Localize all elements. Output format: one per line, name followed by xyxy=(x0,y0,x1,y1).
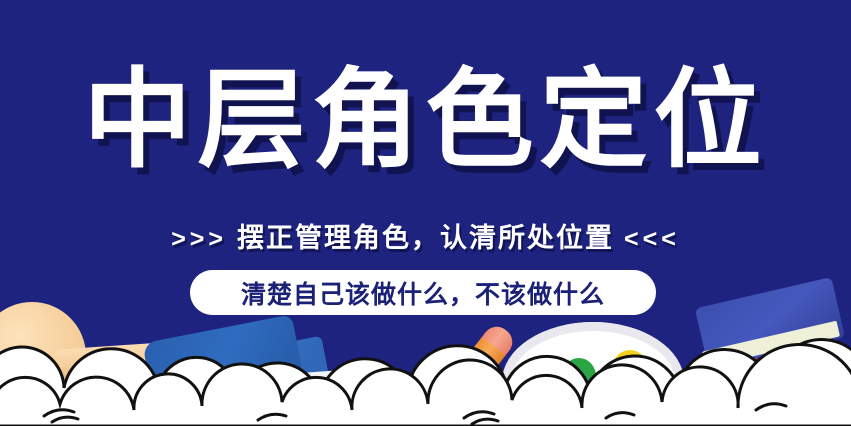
subtitle: >>>摆正管理角色，认清所处位置<<< xyxy=(0,216,851,255)
illustration-scene xyxy=(0,296,851,426)
subtitle-text: 摆正管理角色，认清所处位置 xyxy=(233,223,618,253)
page-title: 中层角色定位 xyxy=(0,58,851,185)
left-chevrons-icon: >>> xyxy=(165,225,233,253)
clouds-icon xyxy=(0,330,851,426)
right-chevrons-icon: <<< xyxy=(618,225,686,253)
promo-banner: 中层角色定位 >>>摆正管理角色，认清所处位置<<< 清楚自己该做什么，不该做什… xyxy=(0,0,851,426)
